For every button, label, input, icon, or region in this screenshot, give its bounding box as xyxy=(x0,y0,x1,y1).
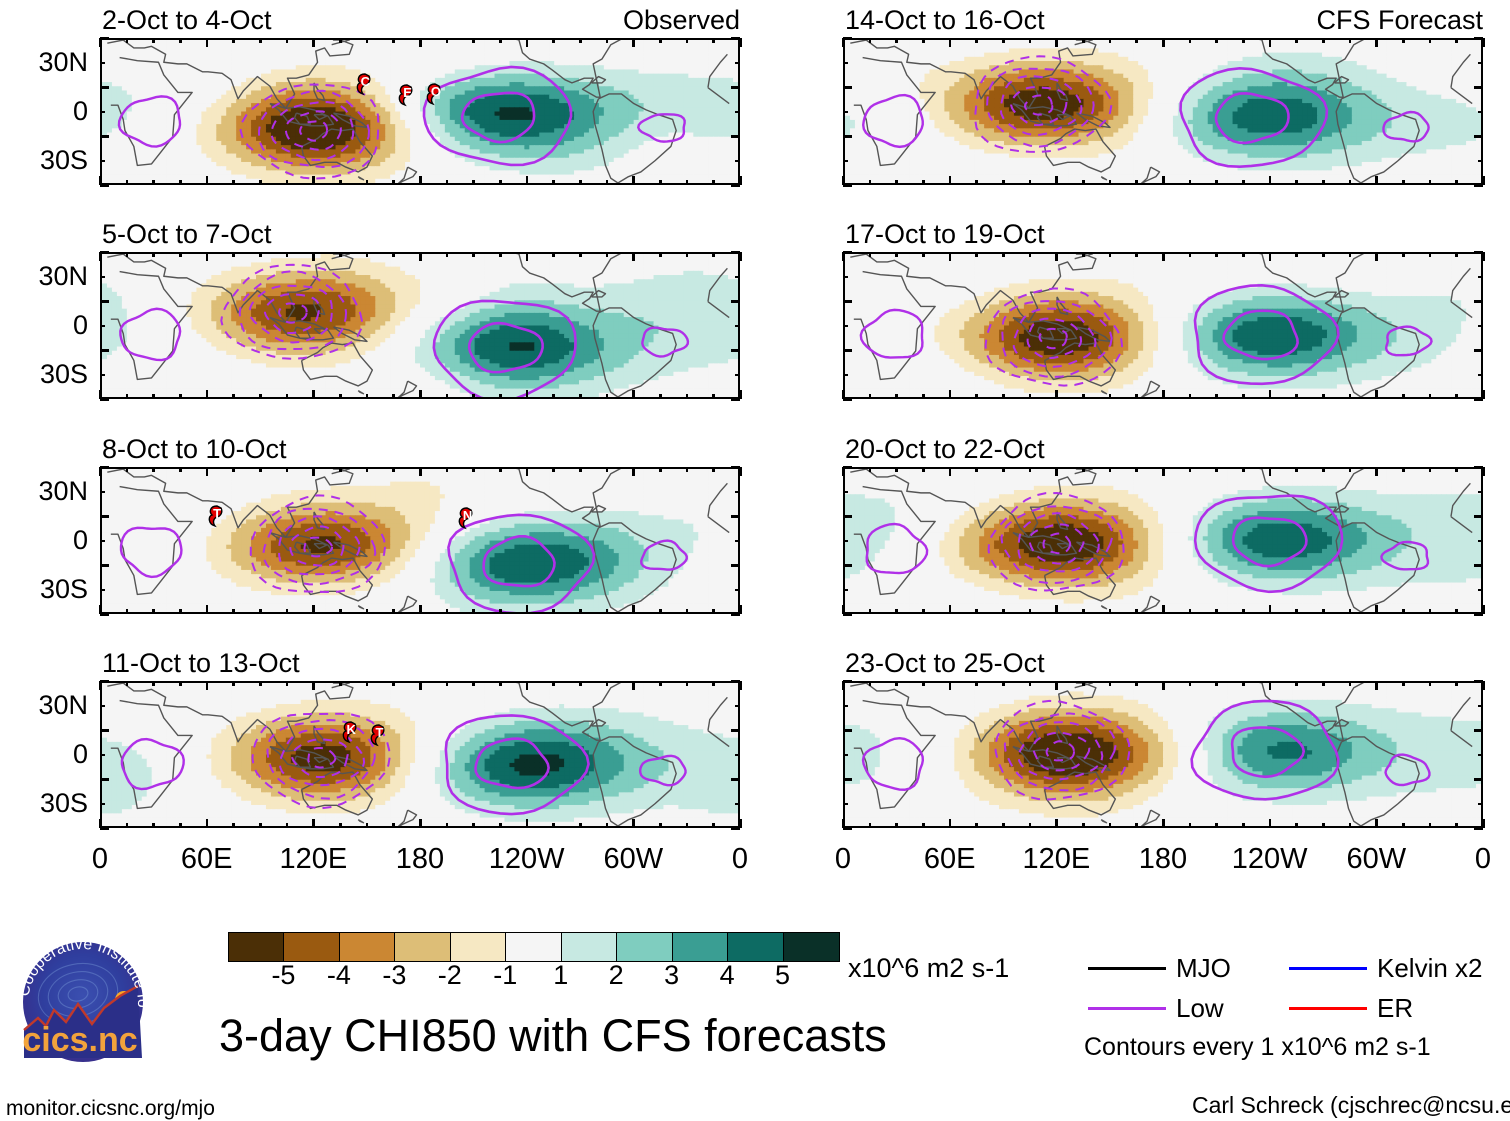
colorbar-tick-label: -5 xyxy=(253,962,313,989)
axis-tick xyxy=(632,176,635,185)
axis-tick xyxy=(843,62,848,65)
axis-tick xyxy=(312,819,315,828)
axis-tick xyxy=(392,609,395,614)
axis-tick xyxy=(1295,180,1298,185)
axis-tick xyxy=(1375,390,1378,399)
axis-tick xyxy=(1349,252,1352,257)
axis-tick xyxy=(1002,180,1005,185)
axis-tick xyxy=(179,681,182,686)
axis-tick xyxy=(949,38,952,47)
storm-marker-label: N xyxy=(462,509,473,522)
axis-tick xyxy=(975,180,978,185)
axis-tick xyxy=(100,135,109,138)
axis-tick xyxy=(579,252,582,257)
axis-tick xyxy=(1135,252,1138,257)
axis-tick xyxy=(339,394,342,399)
axis-tick xyxy=(100,349,109,352)
axis-tick xyxy=(1322,681,1325,686)
map-panel-p4: KT xyxy=(100,681,740,828)
axis-tick xyxy=(499,609,502,614)
axis-tick xyxy=(686,823,689,828)
axis-tick xyxy=(1082,394,1085,399)
axis-tick xyxy=(100,398,109,401)
axis-tick xyxy=(659,681,662,686)
axis-tick xyxy=(526,252,529,261)
axis-tick xyxy=(843,803,848,806)
axis-tick xyxy=(126,180,129,185)
axis-tick xyxy=(632,252,635,261)
colorbar-tick-label: -3 xyxy=(364,962,424,989)
colorbar-tick-label: 5 xyxy=(753,962,813,989)
axis-tick xyxy=(1474,729,1483,732)
axis-tick xyxy=(100,374,105,377)
axis-tick xyxy=(100,754,105,757)
axis-tick xyxy=(1189,467,1192,472)
axis-tick xyxy=(1055,390,1058,399)
axis-tick xyxy=(419,605,422,614)
axis-tick xyxy=(1375,38,1378,47)
axis-tick xyxy=(922,823,925,828)
axis-tick xyxy=(869,467,872,472)
axis-tick xyxy=(1269,467,1272,476)
axis-tick xyxy=(1402,394,1405,399)
axis-tick xyxy=(100,729,109,732)
axis-tick xyxy=(922,252,925,257)
axis-tick xyxy=(179,252,182,257)
axis-tick xyxy=(1189,38,1192,43)
axis-tick xyxy=(659,252,662,257)
axis-tick xyxy=(1429,38,1432,43)
axis-tick xyxy=(1429,823,1432,828)
axis-tick xyxy=(1474,184,1483,187)
footer-website-url[interactable]: monitor.cicsnc.org/mjo xyxy=(6,1098,215,1119)
axis-tick xyxy=(1402,252,1405,257)
y-tick-label: 30N xyxy=(38,478,88,505)
axis-tick xyxy=(1349,823,1352,828)
y-tick-label: 0 xyxy=(73,741,88,768)
axis-tick xyxy=(100,251,109,254)
x-tick-label: 60E xyxy=(890,845,1010,874)
axis-tick xyxy=(712,681,715,686)
axis-tick xyxy=(312,252,315,261)
axis-tick xyxy=(869,180,872,185)
axis-tick xyxy=(731,564,740,567)
axis-tick xyxy=(126,609,129,614)
axis-tick xyxy=(1474,300,1483,303)
axis-tick xyxy=(1295,823,1298,828)
axis-tick xyxy=(735,589,740,592)
axis-tick xyxy=(731,778,740,781)
axis-tick xyxy=(975,823,978,828)
axis-tick xyxy=(922,681,925,686)
axis-tick xyxy=(1029,394,1032,399)
x-tick-label: 0 xyxy=(680,845,800,874)
axis-tick xyxy=(552,180,555,185)
axis-tick xyxy=(949,390,952,399)
colorbar-tick-label: -4 xyxy=(309,962,369,989)
axis-tick xyxy=(1002,394,1005,399)
axis-tick xyxy=(419,819,422,828)
axis-tick xyxy=(1055,467,1058,476)
axis-tick xyxy=(922,467,925,472)
axis-tick xyxy=(1109,38,1112,43)
axis-tick xyxy=(1189,394,1192,399)
axis-tick xyxy=(735,111,740,114)
axis-tick xyxy=(1478,374,1483,377)
axis-tick xyxy=(1109,180,1112,185)
axis-tick xyxy=(731,613,740,616)
axis-tick xyxy=(1455,609,1458,614)
axis-tick xyxy=(1429,681,1432,686)
axis-tick xyxy=(392,180,395,185)
axis-tick xyxy=(632,390,635,399)
axis-tick xyxy=(1162,681,1165,690)
axis-tick xyxy=(735,160,740,163)
colorbar-swatch xyxy=(506,933,561,961)
axis-tick xyxy=(1474,135,1483,138)
axis-tick xyxy=(1189,180,1192,185)
axis-tick xyxy=(579,467,582,472)
y-tick-label: 0 xyxy=(73,98,88,125)
axis-tick xyxy=(286,38,289,43)
axis-tick xyxy=(735,325,740,328)
axis-tick xyxy=(1029,681,1032,686)
axis-tick xyxy=(843,613,852,616)
axis-tick xyxy=(975,394,978,399)
axis-tick xyxy=(499,681,502,686)
axis-tick xyxy=(1189,681,1192,686)
axis-tick xyxy=(895,252,898,257)
axis-tick xyxy=(126,38,129,43)
axis-tick xyxy=(1082,38,1085,43)
legend-swatch-mjo xyxy=(1088,967,1166,970)
axis-tick xyxy=(419,390,422,399)
colorbar-units-label: x10^6 m2 s-1 xyxy=(848,955,1009,982)
axis-tick xyxy=(686,467,689,472)
map-panel-p3: TN xyxy=(100,467,740,614)
axis-tick xyxy=(659,394,662,399)
axis-tick xyxy=(843,778,852,781)
axis-tick xyxy=(1162,252,1165,261)
axis-tick xyxy=(686,252,689,257)
axis-tick xyxy=(1269,819,1272,828)
axis-tick xyxy=(446,394,449,399)
colorbar-swatch xyxy=(395,933,450,961)
axis-tick xyxy=(606,823,609,828)
axis-tick xyxy=(259,180,262,185)
axis-tick xyxy=(1162,467,1165,476)
axis-tick xyxy=(1269,38,1272,47)
axis-tick xyxy=(100,564,109,567)
axis-tick xyxy=(312,467,315,476)
cics-nc-logo: Cooperative Institute for Climate and Sa… xyxy=(16,938,166,1068)
axis-tick xyxy=(1162,390,1165,399)
axis-tick xyxy=(659,180,662,185)
axis-tick xyxy=(1189,252,1192,257)
axis-tick xyxy=(206,390,209,399)
axis-tick xyxy=(1478,491,1483,494)
axis-tick xyxy=(735,754,740,757)
axis-tick xyxy=(232,394,235,399)
axis-tick xyxy=(843,398,852,401)
axis-tick xyxy=(1455,823,1458,828)
legend-contour-note: Contours every 1 x10^6 m2 s-1 xyxy=(1084,1035,1431,1060)
axis-tick xyxy=(843,754,848,757)
axis-tick xyxy=(712,467,715,472)
colorbar-tick-label: 3 xyxy=(642,962,702,989)
axis-tick xyxy=(843,160,848,163)
axis-tick xyxy=(1375,605,1378,614)
axis-tick xyxy=(712,823,715,828)
colorbar-swatch xyxy=(451,933,506,961)
y-tick-label: 0 xyxy=(73,527,88,554)
axis-tick xyxy=(606,38,609,43)
axis-tick xyxy=(232,681,235,686)
axis-tick xyxy=(232,609,235,614)
axis-tick xyxy=(152,180,155,185)
axis-tick xyxy=(843,589,848,592)
axis-tick xyxy=(579,609,582,614)
axis-tick xyxy=(1135,394,1138,399)
axis-tick xyxy=(526,681,529,690)
axis-tick xyxy=(1478,62,1483,65)
axis-tick xyxy=(1055,681,1058,690)
axis-tick xyxy=(735,276,740,279)
axis-tick xyxy=(843,135,852,138)
axis-tick xyxy=(1402,467,1405,472)
axis-tick xyxy=(731,300,740,303)
map-panel-p8 xyxy=(843,681,1483,828)
axis-tick xyxy=(1242,609,1245,614)
axis-tick xyxy=(1002,609,1005,614)
axis-tick xyxy=(312,605,315,614)
axis-tick xyxy=(579,180,582,185)
axis-tick xyxy=(843,300,852,303)
axis-tick xyxy=(579,394,582,399)
axis-tick xyxy=(339,609,342,614)
axis-tick xyxy=(152,394,155,399)
storm-marker-label: T xyxy=(374,726,385,739)
axis-tick xyxy=(1322,252,1325,257)
axis-tick xyxy=(731,86,740,89)
map-panel-p2 xyxy=(100,252,740,399)
axis-tick xyxy=(632,681,635,690)
colorbar-swatch xyxy=(673,933,728,961)
axis-tick xyxy=(843,325,848,328)
axis-tick xyxy=(446,609,449,614)
axis-tick xyxy=(419,38,422,47)
axis-tick xyxy=(843,374,848,377)
axis-tick xyxy=(632,605,635,614)
axis-tick xyxy=(552,609,555,614)
axis-tick xyxy=(179,38,182,43)
axis-tick xyxy=(579,681,582,686)
axis-tick xyxy=(472,38,475,43)
axis-tick xyxy=(1322,394,1325,399)
panel-title-p7: 20-Oct to 22-Oct xyxy=(845,436,1045,463)
axis-tick xyxy=(843,251,852,254)
axis-tick xyxy=(686,609,689,614)
axis-tick xyxy=(1478,276,1483,279)
axis-tick xyxy=(1162,38,1165,47)
axis-tick xyxy=(232,823,235,828)
axis-tick xyxy=(1055,176,1058,185)
axis-tick xyxy=(1029,467,1032,472)
axis-tick xyxy=(232,252,235,257)
axis-tick xyxy=(232,180,235,185)
axis-tick xyxy=(286,180,289,185)
x-tick-label: 0 xyxy=(40,845,160,874)
axis-tick xyxy=(712,609,715,614)
axis-tick xyxy=(499,823,502,828)
axis-tick xyxy=(1322,823,1325,828)
axis-tick xyxy=(922,609,925,614)
axis-tick xyxy=(1402,180,1405,185)
axis-tick xyxy=(949,467,952,476)
axis-tick xyxy=(869,38,872,43)
axis-tick xyxy=(606,252,609,257)
axis-tick xyxy=(1429,252,1432,257)
axis-tick xyxy=(499,252,502,257)
axis-tick xyxy=(869,394,872,399)
axis-tick xyxy=(1455,467,1458,472)
axis-tick xyxy=(366,681,369,686)
axis-tick xyxy=(1215,180,1218,185)
axis-tick xyxy=(712,180,715,185)
axis-tick xyxy=(312,38,315,47)
axis-tick xyxy=(975,38,978,43)
axis-tick xyxy=(312,681,315,690)
axis-tick xyxy=(472,823,475,828)
axis-tick xyxy=(1135,467,1138,472)
axis-tick xyxy=(949,681,952,690)
axis-tick xyxy=(1429,394,1432,399)
axis-tick xyxy=(1474,613,1483,616)
y-tick-label: 30S xyxy=(40,361,88,388)
axis-tick xyxy=(731,827,740,830)
axis-tick xyxy=(843,729,852,732)
axis-tick xyxy=(731,398,740,401)
axis-tick xyxy=(606,467,609,472)
axis-tick xyxy=(975,681,978,686)
panel-title-p8: 23-Oct to 25-Oct xyxy=(845,650,1045,677)
axis-tick xyxy=(1135,38,1138,43)
axis-tick xyxy=(100,325,105,328)
axis-tick xyxy=(735,491,740,494)
axis-tick xyxy=(1162,819,1165,828)
axis-tick xyxy=(1162,605,1165,614)
axis-tick xyxy=(843,540,848,543)
column-header-forecast: CFS Forecast xyxy=(843,7,1483,34)
colorbar-swatch xyxy=(229,933,284,961)
axis-tick xyxy=(100,466,109,469)
storm-marker-label: T xyxy=(212,507,223,520)
main-title: 3-day CHI850 with CFS forecasts xyxy=(219,1013,887,1058)
axis-tick xyxy=(1349,467,1352,472)
axis-tick xyxy=(1455,252,1458,257)
axis-tick xyxy=(659,467,662,472)
axis-tick xyxy=(1002,38,1005,43)
axis-tick xyxy=(552,681,555,686)
axis-tick xyxy=(446,467,449,472)
axis-tick xyxy=(339,823,342,828)
axis-tick xyxy=(100,589,105,592)
axis-tick xyxy=(1242,252,1245,257)
axis-tick xyxy=(1322,467,1325,472)
axis-tick xyxy=(686,681,689,686)
axis-tick xyxy=(100,300,109,303)
axis-tick xyxy=(843,515,852,518)
legend-swatch-kelvin xyxy=(1289,967,1367,970)
axis-tick xyxy=(1269,390,1272,399)
axis-tick xyxy=(339,681,342,686)
axis-tick xyxy=(259,823,262,828)
axis-tick xyxy=(179,823,182,828)
axis-tick xyxy=(419,176,422,185)
axis-tick xyxy=(339,38,342,43)
axis-tick xyxy=(339,467,342,472)
x-tick-label: 120E xyxy=(996,845,1116,874)
axis-tick xyxy=(100,62,105,65)
axis-tick xyxy=(735,803,740,806)
axis-tick xyxy=(206,38,209,47)
colorbar xyxy=(228,932,840,962)
axis-tick xyxy=(1215,823,1218,828)
legend-swatch-er xyxy=(1289,1007,1367,1010)
axis-tick xyxy=(232,467,235,472)
axis-tick xyxy=(712,394,715,399)
axis-tick xyxy=(259,252,262,257)
axis-tick xyxy=(472,609,475,614)
axis-tick xyxy=(975,467,978,472)
axis-tick xyxy=(895,38,898,43)
axis-tick xyxy=(366,38,369,43)
axis-tick xyxy=(1242,394,1245,399)
axis-tick xyxy=(1242,823,1245,828)
axis-tick xyxy=(922,38,925,43)
axis-tick xyxy=(1082,252,1085,257)
axis-tick xyxy=(1295,467,1298,472)
axis-tick xyxy=(312,176,315,185)
axis-tick xyxy=(1215,609,1218,614)
axis-tick xyxy=(1429,609,1432,614)
axis-tick xyxy=(419,252,422,261)
axis-tick xyxy=(843,349,852,352)
axis-tick xyxy=(1474,251,1483,254)
axis-tick xyxy=(472,252,475,257)
colorbar-tick-label: -2 xyxy=(420,962,480,989)
axis-tick xyxy=(712,252,715,257)
axis-tick xyxy=(975,609,978,614)
axis-tick xyxy=(472,467,475,472)
axis-tick xyxy=(949,819,952,828)
axis-tick xyxy=(731,135,740,138)
axis-tick xyxy=(206,467,209,476)
axis-tick xyxy=(1474,86,1483,89)
axis-tick xyxy=(1375,252,1378,261)
axis-tick xyxy=(659,609,662,614)
axis-tick xyxy=(526,390,529,399)
footer-author-contact[interactable]: Carl Schreck (cjschrec@ncsu.edu) xyxy=(1192,1094,1510,1117)
colorbar-tick-label: 4 xyxy=(697,962,757,989)
axis-tick xyxy=(152,681,155,686)
axis-tick xyxy=(100,184,109,187)
axis-tick xyxy=(259,394,262,399)
axis-tick xyxy=(1349,681,1352,686)
axis-tick xyxy=(179,609,182,614)
axis-tick xyxy=(526,38,529,47)
axis-tick xyxy=(1215,38,1218,43)
